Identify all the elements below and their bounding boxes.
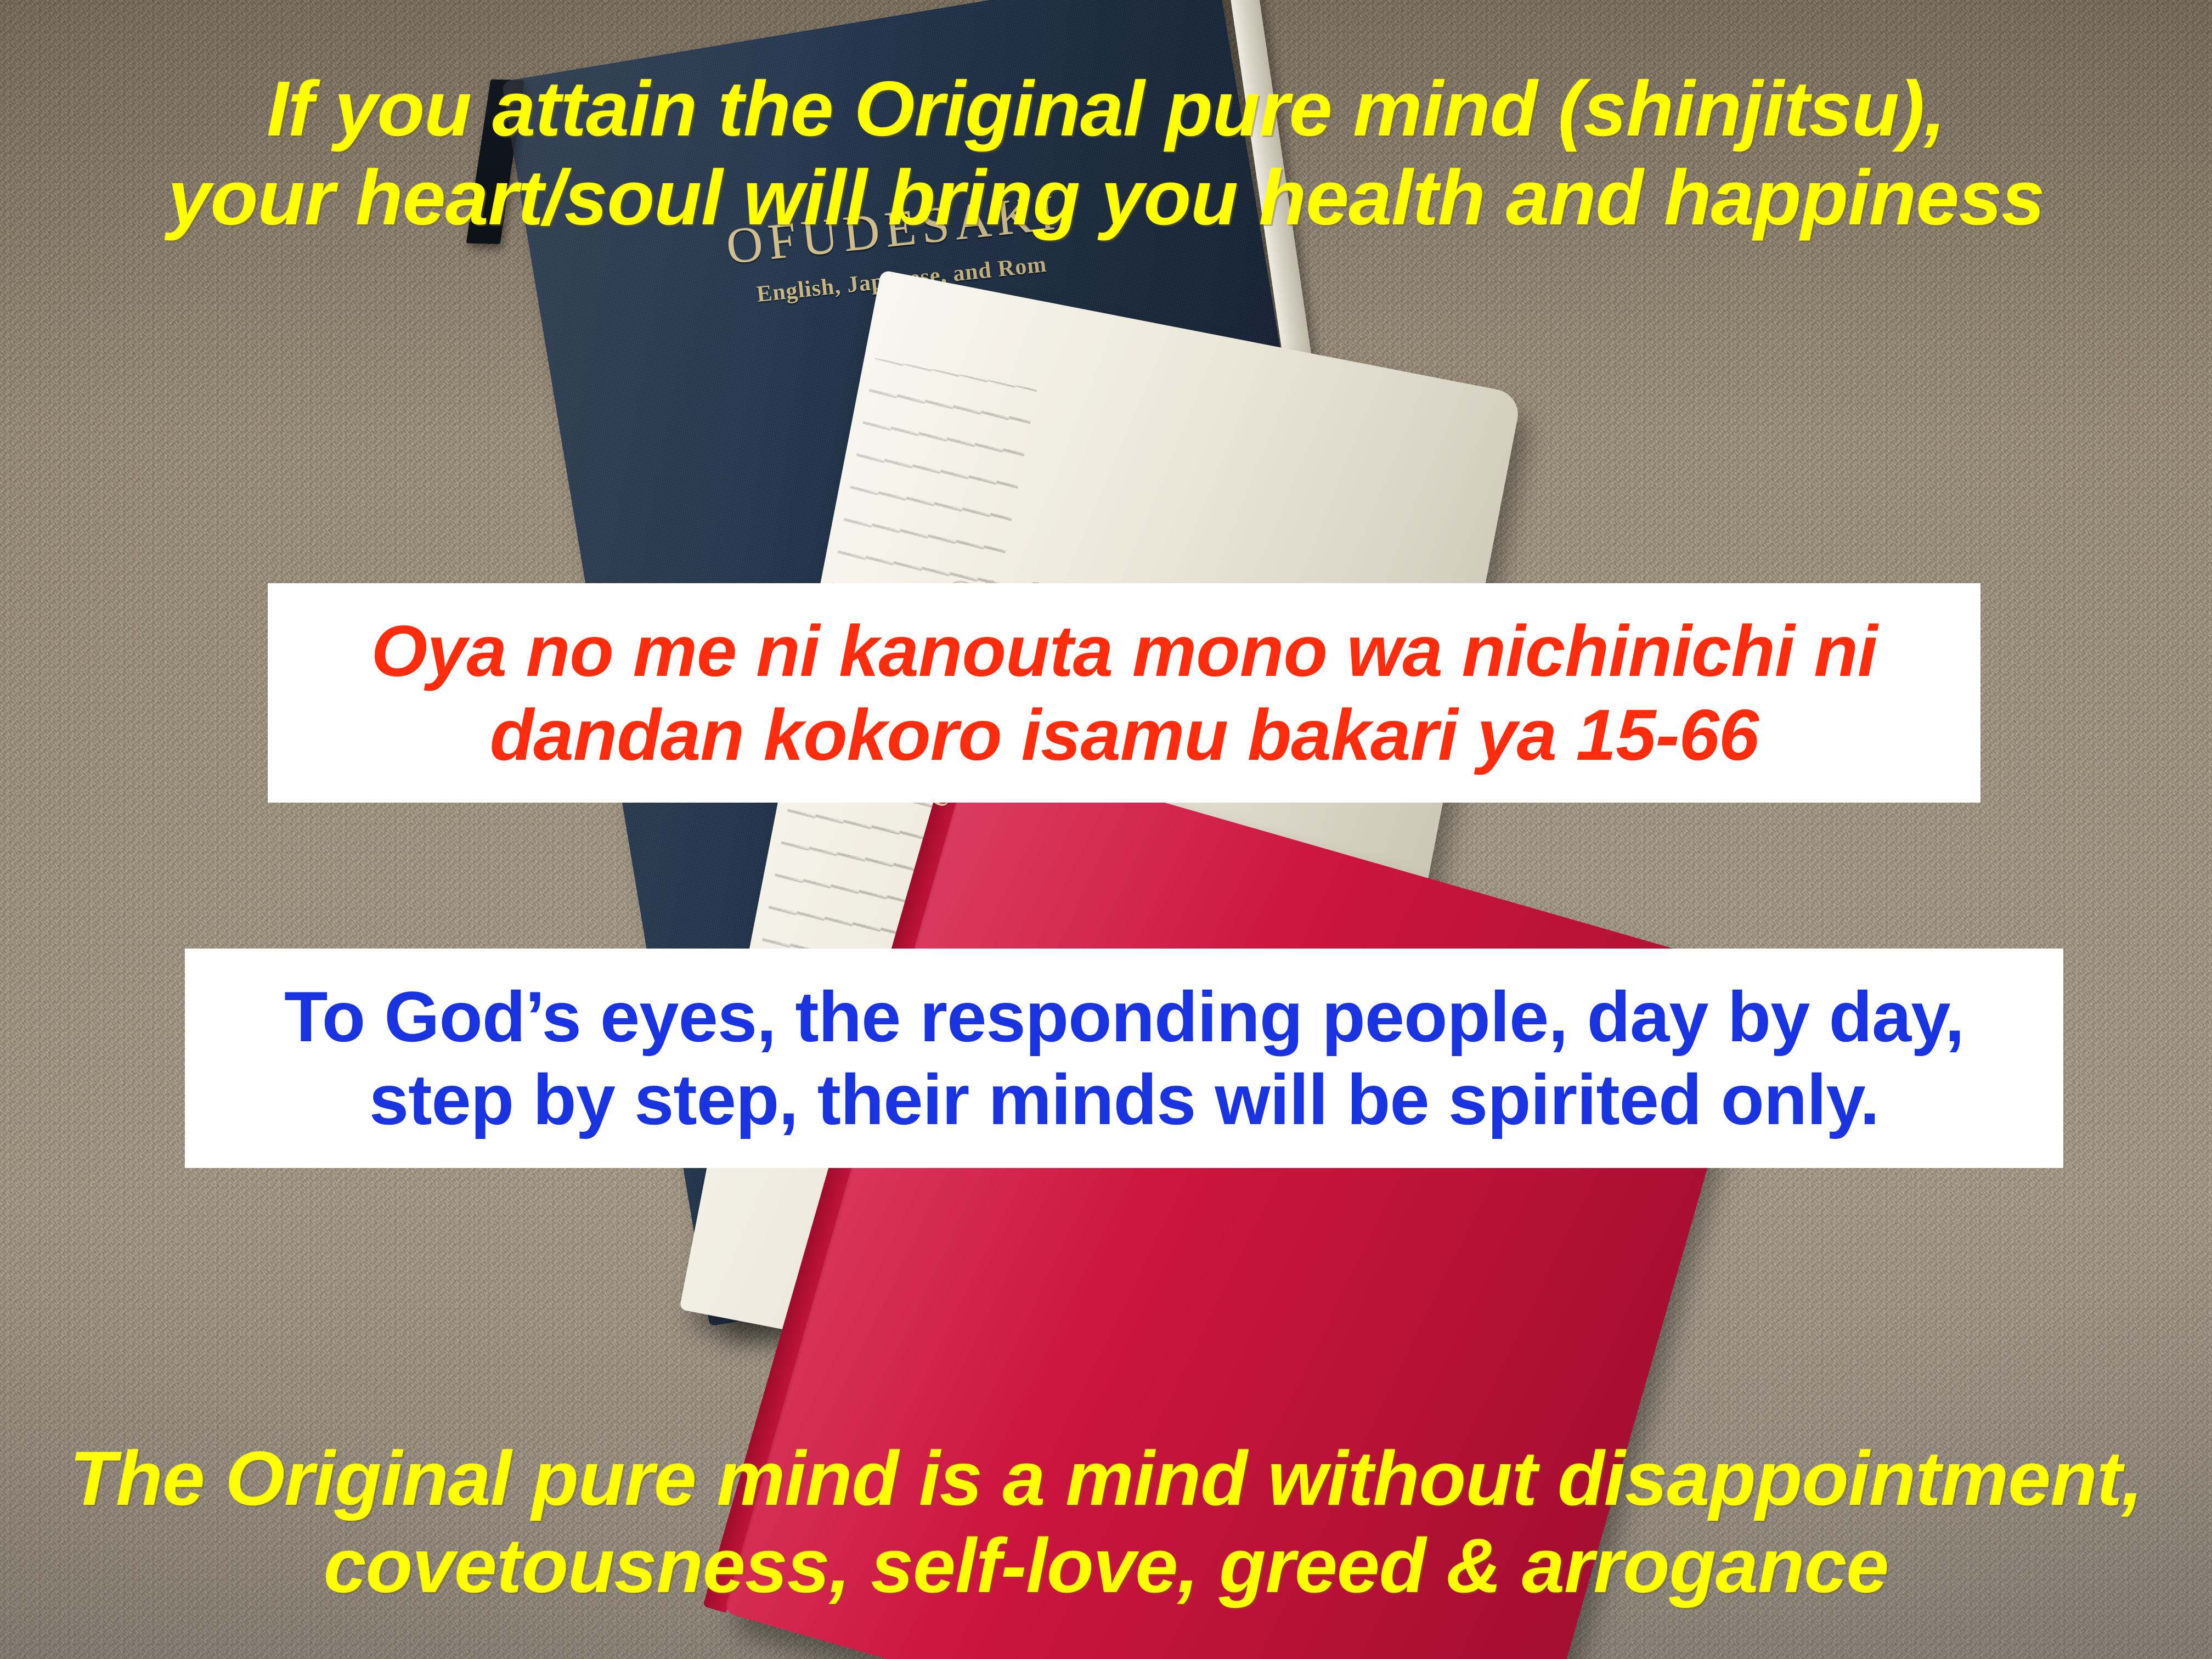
translation-line-2: step by step, their minds will be spirit… [185,1058,2063,1141]
bottom-caption: The Original pure mind is a mind without… [0,1435,2212,1610]
romanization-card: Oya no me ni kanouta mono wa nichinichi … [268,583,1980,803]
translation-card: To God’s eyes, the responding people, da… [185,949,2063,1168]
bottom-caption-line-1: The Original pure mind is a mind without… [0,1435,2212,1522]
translation-line-1: To God’s eyes, the responding people, da… [185,975,2063,1058]
romanization-line-1: Oya no me ni kanouta mono wa nichinichi … [268,609,1980,693]
bottom-caption-line-2: covetousness, self-love, greed & arrogan… [0,1522,2212,1610]
top-caption: If you attain the Original pure mind (sh… [0,65,2212,242]
slide-canvas: OFUDESAKI English, Japanese, and Rom Ofu… [0,0,2212,1659]
top-caption-line-2: your heart/soul will bring you health an… [0,154,2212,242]
romanization-line-2: dandan kokoro isamu bakari ya 15-66 [268,693,1980,777]
top-caption-line-1: If you attain the Original pure mind (sh… [0,65,2212,154]
